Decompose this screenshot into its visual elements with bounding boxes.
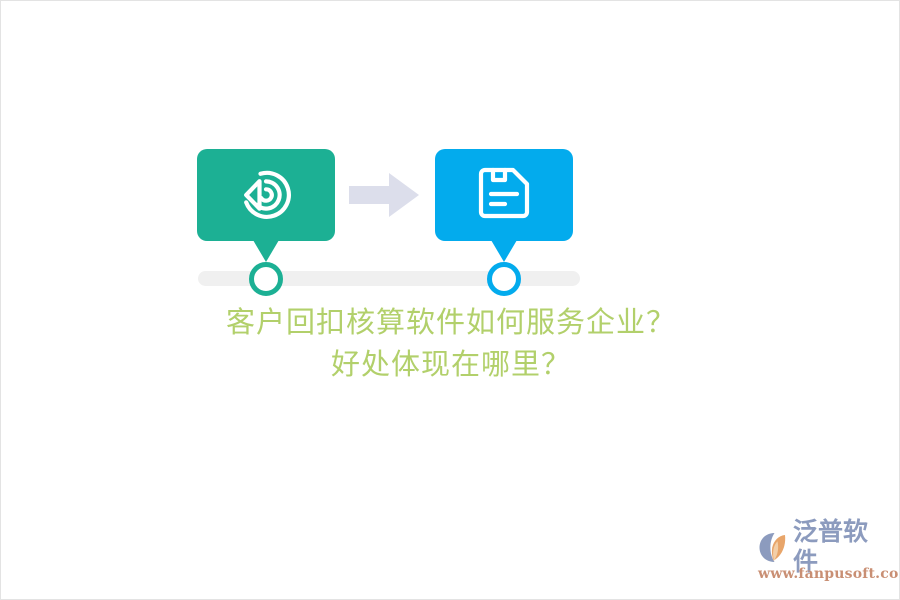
step-card-1	[197, 149, 335, 241]
page-title-line-2: 好处体现在哪里？	[1, 343, 900, 385]
step-card-2-pointer	[491, 240, 517, 262]
watermark-logo: 泛普软件 www.fanpusoft.com	[757, 529, 889, 587]
document-save-icon	[435, 149, 573, 241]
step-card-1-pointer	[253, 240, 279, 262]
step-card-2	[435, 149, 573, 241]
watermark-brand-row: 泛普软件	[757, 529, 889, 565]
page-title: 客户回扣核算软件如何服务企业？ 好处体现在哪里？	[1, 301, 900, 385]
watermark-url: www.fanpusoft.com	[758, 566, 889, 582]
page-title-line-1: 客户回扣核算软件如何服务企业？	[1, 301, 900, 343]
timeline-node-1	[249, 262, 283, 296]
timeline-node-2	[487, 262, 521, 296]
broadcast-signal-icon	[197, 149, 335, 241]
page-root: 客户回扣核算软件如何服务企业？ 好处体现在哪里？ 泛普软件 www.fanpus…	[0, 0, 900, 600]
right-arrow-icon	[349, 171, 419, 219]
fanpu-logo-icon	[757, 530, 791, 564]
